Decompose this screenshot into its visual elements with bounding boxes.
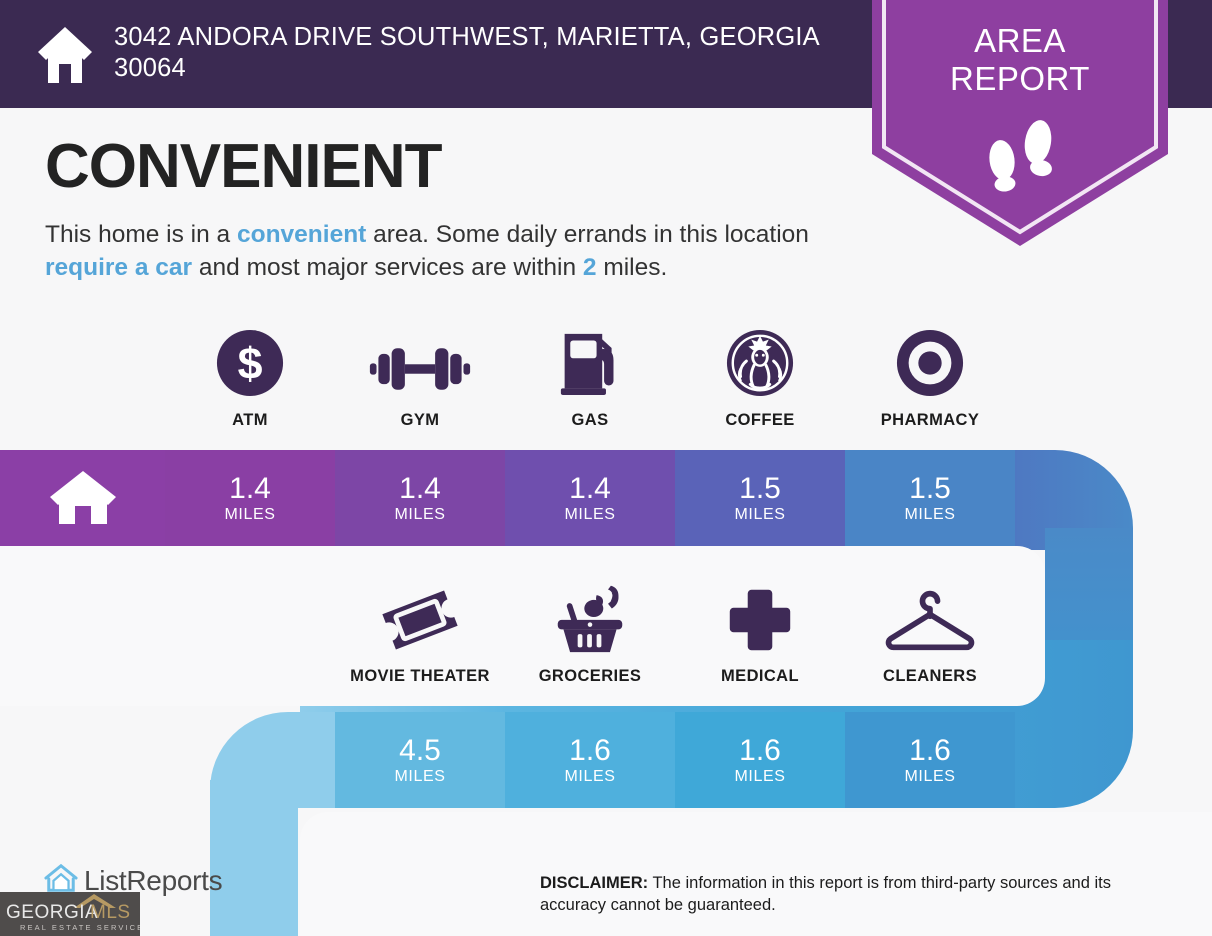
distance-value: 1.4 xyxy=(229,473,271,505)
distance-unit: MILES xyxy=(564,768,615,786)
disclaimer: DISCLAIMER: The information in this repo… xyxy=(540,872,1180,916)
category-groceries[interactable]: GROCERIES xyxy=(505,582,675,686)
distance-cell-gym: 1.4 MILES xyxy=(335,450,505,546)
category-label: MEDICAL xyxy=(721,667,799,686)
grocery-basket-icon xyxy=(552,582,628,654)
hanger-icon xyxy=(881,582,979,654)
distance-cell-groceries: 1.6 MILES xyxy=(505,712,675,808)
category-cleaners[interactable]: CLEANERS xyxy=(845,582,1015,686)
desc-highlight-2: require a car xyxy=(45,254,192,281)
distance-value: 1.5 xyxy=(739,473,781,505)
distance-cell-pharmacy: 1.5 MILES xyxy=(845,450,1015,546)
distance-cell-atm: 1.4 MILES xyxy=(165,450,335,546)
distance-unit: MILES xyxy=(394,506,445,524)
category-label: COFFEE xyxy=(725,411,794,430)
distance-value: 1.6 xyxy=(739,735,781,767)
georgia-mls-logo[interactable]: GEORGIA MLS REAL ESTATE SERVICES xyxy=(0,892,140,936)
category-label: PHARMACY xyxy=(881,411,980,430)
distance-row-1: 1.4 MILES 1.4 MILES 1.4 MILES 1.5 MILES … xyxy=(165,450,1015,546)
category-label: GAS xyxy=(572,411,609,430)
distance-unit: MILES xyxy=(224,506,275,524)
distance-row-2: 4.5 MILES 1.6 MILES 1.6 MILES 1.6 MILES xyxy=(335,712,1015,808)
dollar-circle-icon: $ xyxy=(215,326,285,398)
desc-part-1: This home is in a xyxy=(45,221,237,248)
category-gas[interactable]: GAS xyxy=(505,326,675,430)
category-label: MOVIE THEATER xyxy=(350,667,490,686)
category-label: ATM xyxy=(232,411,268,430)
badge-line-2: REPORT xyxy=(872,60,1168,98)
desc-part-4: miles. xyxy=(597,254,668,281)
page-title: CONVENIENT xyxy=(45,136,441,198)
desc-highlight-1: convenient xyxy=(237,221,366,248)
category-gym[interactable]: GYM xyxy=(335,326,505,430)
home-icon xyxy=(36,24,94,86)
medical-cross-icon xyxy=(726,582,794,654)
distance-unit: MILES xyxy=(394,768,445,786)
category-label: GROCERIES xyxy=(539,667,642,686)
svg-text:MLS: MLS xyxy=(90,902,131,923)
distance-cell-medical: 1.6 MILES xyxy=(675,712,845,808)
category-movie-theater[interactable]: MOVIE THEATER xyxy=(335,582,505,686)
distance-value: 4.5 xyxy=(399,735,441,767)
distance-value: 1.5 xyxy=(909,473,951,505)
distance-cell-movie-theater: 4.5 MILES xyxy=(335,712,505,808)
distance-unit: MILES xyxy=(734,506,785,524)
category-icons-row-1: $ ATM GYM xyxy=(165,326,1100,430)
desc-part-3: and most major services are within xyxy=(192,254,583,281)
header-content: 3042 ANDORA DRIVE SOUTHWEST, MARIETTA, G… xyxy=(36,22,882,86)
distance-cell-cleaners: 1.6 MILES xyxy=(845,712,1015,808)
category-pharmacy[interactable]: PHARMACY xyxy=(845,326,1015,430)
home-marker xyxy=(0,450,165,546)
dumbbell-icon xyxy=(368,326,472,398)
distance-cell-gas: 1.4 MILES xyxy=(505,450,675,546)
distance-value: 1.6 xyxy=(569,735,611,767)
area-report-badge: AREA REPORT xyxy=(872,0,1168,246)
category-atm[interactable]: $ ATM xyxy=(165,326,335,430)
category-icons-row-2: MOVIE THEATER xyxy=(335,582,1100,686)
gas-pump-icon xyxy=(559,326,621,398)
badge-title: AREA REPORT xyxy=(872,22,1168,98)
desc-highlight-3: 2 xyxy=(583,254,597,281)
category-coffee[interactable]: COFFEE xyxy=(675,326,845,430)
desc-part-2: area. Some daily errands in this locatio… xyxy=(366,221,809,248)
area-report-page: 3042 ANDORA DRIVE SOUTHWEST, MARIETTA, G… xyxy=(0,0,1212,936)
category-label: GYM xyxy=(401,411,440,430)
ticket-icon xyxy=(379,582,461,654)
distance-value: 1.4 xyxy=(399,473,441,505)
distance-unit: MILES xyxy=(904,768,955,786)
starbucks-siren-icon xyxy=(725,326,795,398)
distance-unit: MILES xyxy=(564,506,615,524)
property-address: 3042 ANDORA DRIVE SOUTHWEST, MARIETTA, G… xyxy=(114,22,882,84)
home-icon xyxy=(48,469,118,527)
badge-line-1: AREA xyxy=(872,22,1168,60)
svg-text:GEORGIA: GEORGIA xyxy=(6,902,98,923)
distance-cell-coffee: 1.5 MILES xyxy=(675,450,845,546)
disclaimer-label: DISCLAIMER: xyxy=(540,874,648,892)
distance-unit: MILES xyxy=(904,506,955,524)
category-medical[interactable]: MEDICAL xyxy=(675,582,845,686)
distance-value: 1.6 xyxy=(909,735,951,767)
distance-unit: MILES xyxy=(734,768,785,786)
distance-value: 1.4 xyxy=(569,473,611,505)
bullseye-icon xyxy=(895,326,965,398)
page-description: This home is in a convenient area. Some … xyxy=(45,218,845,284)
svg-text:$: $ xyxy=(238,340,263,389)
svg-text:REAL ESTATE SERVICES: REAL ESTATE SERVICES xyxy=(20,923,140,932)
category-label: CLEANERS xyxy=(883,667,977,686)
